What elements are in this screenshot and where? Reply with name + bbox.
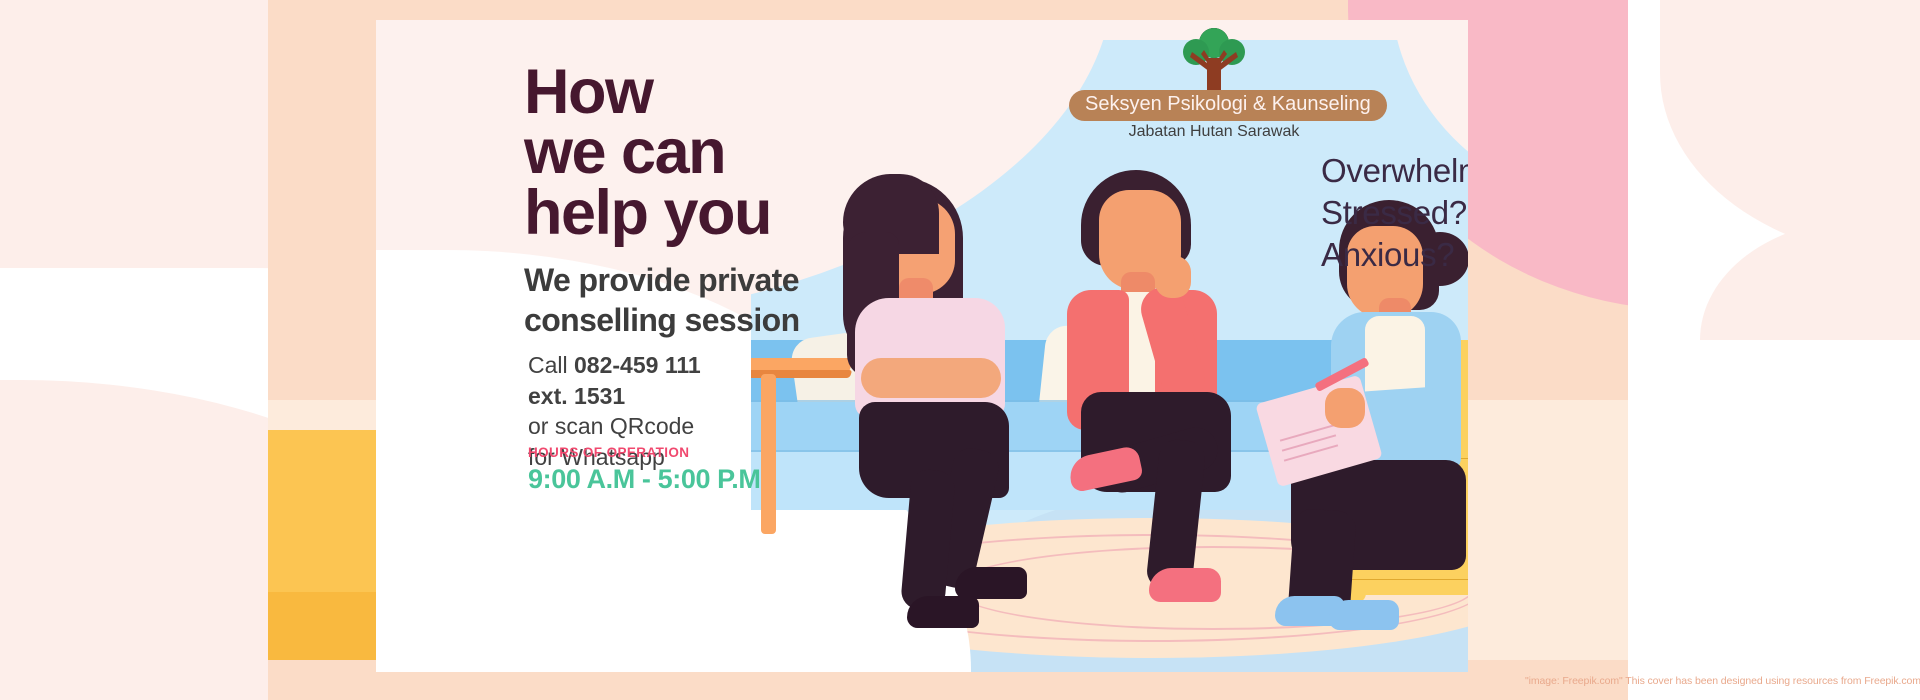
figure-man-shoe-floor bbox=[1149, 568, 1221, 602]
image-credit: "image: Freepik.com" This cover has been… bbox=[1525, 675, 1920, 687]
logo-subtitle: Jabatan Hutan Sarawak bbox=[1069, 123, 1359, 141]
figure-man-hand-on-chin bbox=[1155, 256, 1191, 298]
organization-logo: Seksyen Psikologi & Kaunseling Jabatan H… bbox=[1069, 28, 1359, 141]
page-title: How we can help you bbox=[524, 62, 1064, 243]
question-line-2: Stressed? bbox=[1321, 192, 1468, 234]
banner: How we can help you We provide private c… bbox=[268, 0, 1628, 700]
question-line-1: Overwhelmed? bbox=[1321, 150, 1468, 192]
question-line-3: Anxious? bbox=[1321, 234, 1468, 276]
subheadline-line-2: conselling session bbox=[524, 300, 1044, 340]
tree-icon bbox=[1069, 28, 1359, 90]
figure-woman-left-shoe-front bbox=[955, 567, 1027, 599]
contact-scan-line: or scan QRcode bbox=[528, 411, 928, 442]
phone-number: 082-459 111 bbox=[574, 352, 701, 378]
figure-counselor-hand bbox=[1325, 388, 1365, 428]
content-card: How we can help you We provide private c… bbox=[376, 20, 1468, 672]
headline-line-2: we can bbox=[524, 122, 1064, 182]
figure-counselor-shoe-back bbox=[1329, 600, 1399, 630]
contact-extension-line: ext. 1531 bbox=[528, 381, 928, 412]
subheadline-line-1: We provide private bbox=[524, 260, 1044, 300]
figure-woman-left-shoe-back bbox=[907, 596, 979, 628]
headline-line-3: help you bbox=[524, 183, 1064, 243]
hours-value: 9:00 A.M - 5:00 P.M bbox=[528, 464, 761, 495]
contact-call-line: Call 082-459 111 bbox=[528, 350, 928, 381]
questions-block: Overwhelmed? Stressed? Anxious? bbox=[1321, 150, 1468, 276]
poster-stage: How we can help you We provide private c… bbox=[0, 0, 1920, 700]
logo-pill-label: Seksyen Psikologi & Kaunseling bbox=[1069, 90, 1387, 121]
subheadline: We provide private conselling session bbox=[524, 260, 1044, 340]
headline-line-1: How bbox=[524, 62, 1064, 122]
phone-extension: ext. 1531 bbox=[528, 383, 625, 409]
hours-label: HOURS OF OPERATION bbox=[528, 445, 689, 460]
call-prefix: Call bbox=[528, 352, 574, 378]
